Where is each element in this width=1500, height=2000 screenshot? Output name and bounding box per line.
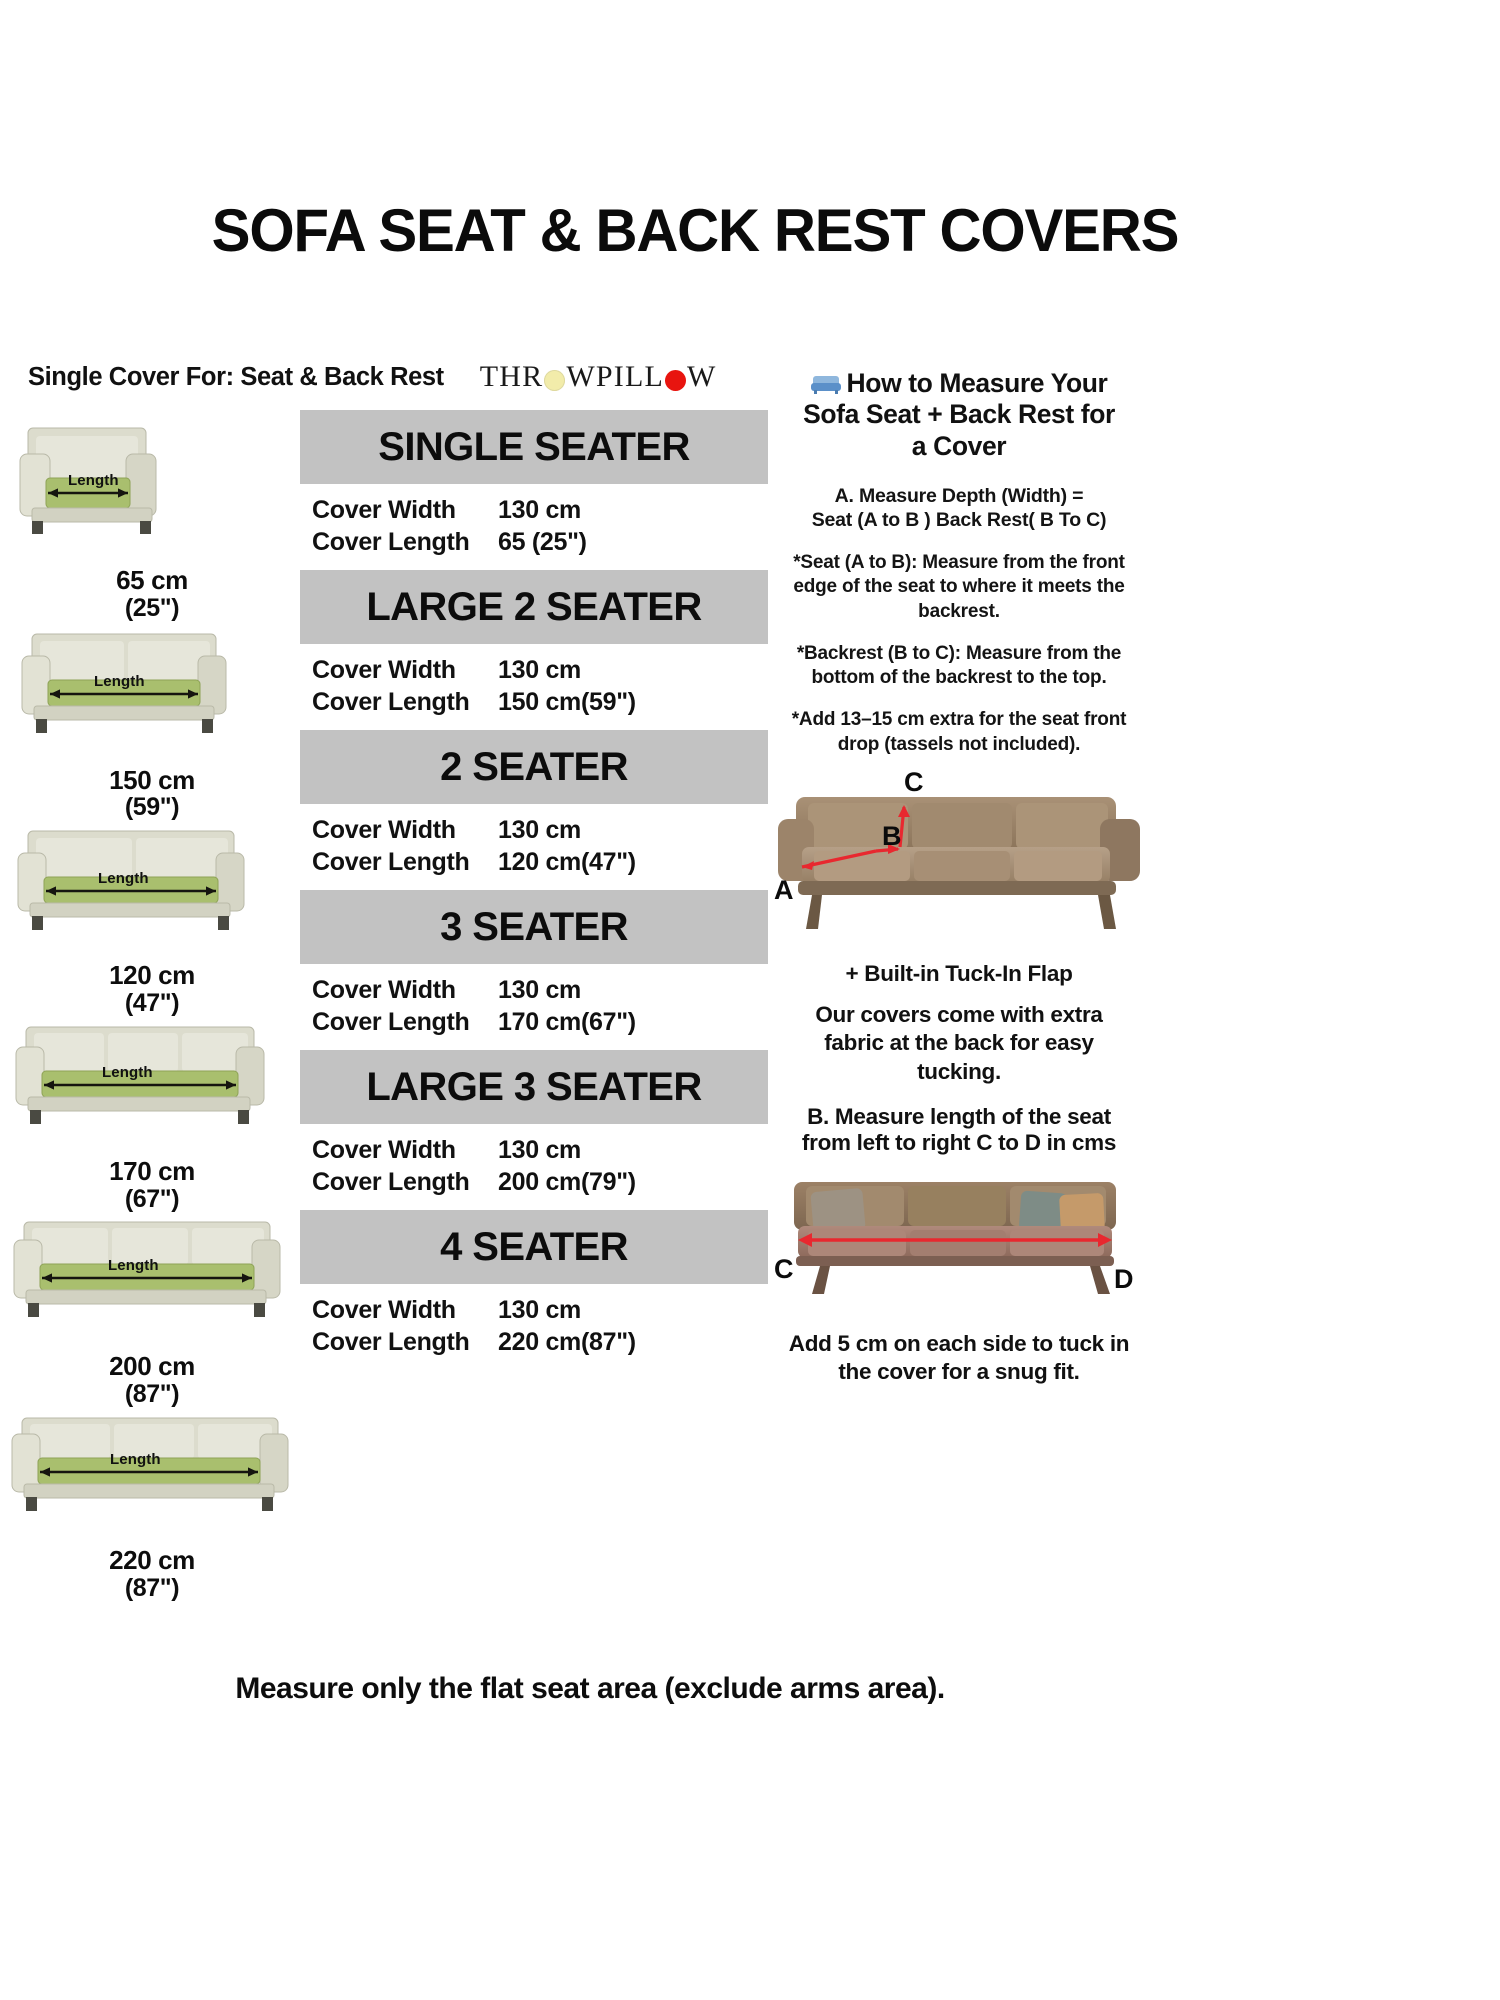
brand-red-o-icon bbox=[665, 370, 686, 391]
infographic-page: SOFA SEAT & BACK REST COVERS Single Cove… bbox=[0, 0, 1500, 2000]
sofa-photo-abc: C B A bbox=[768, 771, 1150, 951]
marker-c2-label: C bbox=[774, 1254, 794, 1285]
length-label-2-seater: Length bbox=[98, 870, 149, 887]
large-2-seater-svg bbox=[6, 628, 258, 760]
category-header-single-seater: SINGLE SEATER bbox=[300, 410, 768, 484]
sofa-block-4-seater: Length 220 cm (87") bbox=[6, 1414, 298, 1602]
marker-c-label: C bbox=[904, 767, 924, 798]
brand-yellow-o-icon bbox=[544, 370, 565, 391]
spec-label-length-large-2-seater: Cover Length bbox=[312, 686, 498, 718]
spec-row-width-2-seater: Cover Width 130 cm bbox=[312, 814, 768, 846]
footer-note: Measure only the flat seat area (exclude… bbox=[0, 1672, 1180, 1706]
dimension-caption-2-seater: 120 cm (47") bbox=[6, 962, 298, 1017]
spec-row-width-large-3-seater: Cover Width 130 cm bbox=[312, 1134, 768, 1166]
spec-value-length-large-2-seater: 150 cm(59") bbox=[498, 686, 636, 718]
category-header-2-seater: 2 SEATER bbox=[300, 730, 768, 804]
category-spec-column: SINGLE SEATER Cover Width 130 cm Cover L… bbox=[300, 410, 768, 1370]
dimension-inch-2-seater: (47") bbox=[6, 990, 298, 1017]
spec-row-width-3-seater: Cover Width 130 cm bbox=[312, 974, 768, 1006]
guide-point-a: A. Measure Depth (Width) = Seat (A to B … bbox=[768, 484, 1150, 533]
guide-seat-note: *Seat (A to B): Measure from the front e… bbox=[768, 551, 1150, 624]
category-block-single-seater: SINGLE SEATER Cover Width 130 cm Cover L… bbox=[300, 410, 768, 566]
subtitle-text: Single Cover For: Seat & Back Rest bbox=[28, 363, 444, 392]
dimension-cm-4-seater: 220 cm bbox=[109, 1545, 195, 1575]
spec-row-length-large-3-seater: Cover Length 200 cm(79") bbox=[312, 1166, 768, 1198]
dimension-inch-single-seater: (25") bbox=[6, 595, 298, 622]
four-seater-svg bbox=[6, 1414, 296, 1540]
spec-rows-large-3-seater: Cover Width 130 cm Cover Length 200 cm(7… bbox=[300, 1124, 768, 1206]
spec-value-width-large-2-seater: 130 cm bbox=[498, 654, 581, 686]
spec-rows-2-seater: Cover Width 130 cm Cover Length 120 cm(4… bbox=[300, 804, 768, 886]
dimension-cm-3-seater: 170 cm bbox=[109, 1156, 195, 1186]
category-block-2-seater: 2 SEATER Cover Width 130 cm Cover Length… bbox=[300, 730, 768, 886]
sofa-illustration-large-3-seater: Length bbox=[6, 1218, 298, 1351]
guide-heading: How to Measure Your Sofa Seat + Back Res… bbox=[768, 368, 1150, 462]
sofa-illustration-large-2-seater: Length bbox=[6, 628, 298, 765]
spec-row-length-single-seater: Cover Length 65 (25") bbox=[312, 526, 768, 558]
spec-rows-large-2-seater: Cover Width 130 cm Cover Length 150 cm(5… bbox=[300, 644, 768, 726]
guide-heading-line2: Sofa Seat + Back Rest for bbox=[768, 399, 1150, 430]
spec-value-length-4-seater: 220 cm(87") bbox=[498, 1326, 636, 1358]
category-block-large-2-seater: LARGE 2 SEATER Cover Width 130 cm Cover … bbox=[300, 570, 768, 726]
spec-row-width-4-seater: Cover Width 130 cm bbox=[312, 1294, 768, 1326]
spec-value-width-large-3-seater: 130 cm bbox=[498, 1134, 581, 1166]
guide-point-b-line2: from left to right C to D in cms bbox=[768, 1130, 1150, 1156]
spec-label-length-4-seater: Cover Length bbox=[312, 1326, 498, 1358]
spec-row-length-2-seater: Cover Length 120 cm(47") bbox=[312, 846, 768, 878]
category-title-large-2-seater: LARGE 2 SEATER bbox=[366, 585, 701, 630]
guide-heading-line1: How to Measure Your bbox=[847, 368, 1108, 398]
spec-label-width-3-seater: Cover Width bbox=[312, 974, 498, 1006]
dimension-inch-large-3-seater: (87") bbox=[6, 1381, 298, 1408]
brand-part-one: THR bbox=[480, 360, 544, 394]
dimension-cm-single-seater: 65 cm bbox=[116, 565, 188, 595]
tuck-in-flap-title: + Built-in Tuck-In Flap bbox=[768, 961, 1150, 987]
measuring-guide-column: How to Measure Your Sofa Seat + Back Res… bbox=[768, 368, 1150, 1387]
guide-extra-note: *Add 13–15 cm extra for the seat front d… bbox=[768, 708, 1150, 757]
category-title-2-seater: 2 SEATER bbox=[440, 745, 628, 790]
guide-point-b: B. Measure length of the seat from left … bbox=[768, 1104, 1150, 1156]
category-header-large-3-seater: LARGE 3 SEATER bbox=[300, 1050, 768, 1124]
category-title-single-seater: SINGLE SEATER bbox=[378, 425, 690, 470]
two-seater-svg bbox=[6, 827, 268, 955]
sofa-illustration-single-seater: Length bbox=[6, 420, 298, 565]
dimension-caption-4-seater: 220 cm (87") bbox=[6, 1547, 298, 1602]
sofa-block-large-2-seater: Length 150 cm (59") bbox=[6, 628, 298, 822]
three-seater-svg bbox=[6, 1023, 278, 1151]
dimension-caption-large-2-seater: 150 cm (59") bbox=[6, 767, 298, 822]
spec-value-length-large-3-seater: 200 cm(79") bbox=[498, 1166, 636, 1198]
dimension-caption-large-3-seater: 200 cm (87") bbox=[6, 1353, 298, 1408]
category-block-large-3-seater: LARGE 3 SEATER Cover Width 130 cm Cover … bbox=[300, 1050, 768, 1206]
spec-rows-3-seater: Cover Width 130 cm Cover Length 170 cm(6… bbox=[300, 964, 768, 1046]
single-seater-svg bbox=[6, 420, 206, 560]
category-block-4-seater: 4 SEATER Cover Width 130 cm Cover Length… bbox=[300, 1210, 768, 1366]
spec-rows-single-seater: Cover Width 130 cm Cover Length 65 (25") bbox=[300, 484, 768, 566]
spec-value-width-3-seater: 130 cm bbox=[498, 974, 581, 1006]
sofa-illustration-2-seater: Length bbox=[6, 827, 298, 960]
sofa-illustration-column: Length 65 cm (25") bbox=[6, 420, 298, 1607]
brand-part-three: W bbox=[687, 360, 717, 394]
category-header-large-2-seater: LARGE 2 SEATER bbox=[300, 570, 768, 644]
spec-value-width-2-seater: 130 cm bbox=[498, 814, 581, 846]
sofa-block-2-seater: Length 120 cm (47") bbox=[6, 827, 298, 1017]
length-label-large-3-seater: Length bbox=[108, 1257, 159, 1274]
spec-label-width-single-seater: Cover Width bbox=[312, 494, 498, 526]
page-title: SOFA SEAT & BACK REST COVERS bbox=[21, 196, 1369, 265]
marker-b-label: B bbox=[882, 821, 902, 852]
sofa-block-3-seater: Length 170 cm (67") bbox=[6, 1023, 298, 1213]
spec-row-width-large-2-seater: Cover Width 130 cm bbox=[312, 654, 768, 686]
spec-row-length-4-seater: Cover Length 220 cm(87") bbox=[312, 1326, 768, 1358]
dimension-cm-large-2-seater: 150 cm bbox=[109, 765, 195, 795]
sofa-illustration-4-seater: Length bbox=[6, 1414, 298, 1545]
sofa-illustration-3-seater: Length bbox=[6, 1023, 298, 1156]
category-title-large-3-seater: LARGE 3 SEATER bbox=[366, 1065, 701, 1110]
spec-row-length-large-2-seater: Cover Length 150 cm(59") bbox=[312, 686, 768, 718]
sofa-photo-abc-svg bbox=[768, 771, 1150, 951]
spec-row-length-3-seater: Cover Length 170 cm(67") bbox=[312, 1006, 768, 1038]
dimension-inch-large-2-seater: (59") bbox=[6, 794, 298, 821]
guide-point-b-line1: B. Measure length of the seat bbox=[768, 1104, 1150, 1130]
marker-a-label: A bbox=[774, 875, 794, 906]
length-label-3-seater: Length bbox=[102, 1064, 153, 1081]
spec-value-length-single-seater: 65 (25") bbox=[498, 526, 587, 558]
spec-value-width-single-seater: 130 cm bbox=[498, 494, 581, 526]
dimension-inch-4-seater: (87") bbox=[6, 1575, 298, 1602]
category-title-3-seater: 3 SEATER bbox=[440, 905, 628, 950]
dimension-caption-3-seater: 170 cm (67") bbox=[6, 1158, 298, 1213]
spec-value-length-3-seater: 170 cm(67") bbox=[498, 1006, 636, 1038]
spec-label-length-large-3-seater: Cover Length bbox=[312, 1166, 498, 1198]
spec-value-width-4-seater: 130 cm bbox=[498, 1294, 581, 1326]
brand-logo: THR WPILL W bbox=[480, 360, 717, 394]
spec-label-width-2-seater: Cover Width bbox=[312, 814, 498, 846]
spec-rows-4-seater: Cover Width 130 cm Cover Length 220 cm(8… bbox=[300, 1284, 768, 1366]
marker-d-label: D bbox=[1114, 1264, 1134, 1295]
large-three-seater-svg bbox=[6, 1218, 290, 1346]
spec-label-length-single-seater: Cover Length bbox=[312, 526, 498, 558]
dimension-cm-large-3-seater: 200 cm bbox=[109, 1351, 195, 1381]
spec-row-width-single-seater: Cover Width 130 cm bbox=[312, 494, 768, 526]
guide-point-a-line1: A. Measure Depth (Width) = bbox=[768, 484, 1150, 509]
spec-label-width-large-3-seater: Cover Width bbox=[312, 1134, 498, 1166]
category-header-4-seater: 4 SEATER bbox=[300, 1210, 768, 1284]
category-header-3-seater: 3 SEATER bbox=[300, 890, 768, 964]
spec-label-length-3-seater: Cover Length bbox=[312, 1006, 498, 1038]
length-label-4-seater: Length bbox=[110, 1451, 161, 1468]
guide-point-a-line2: Seat (A to B ) Back Rest( B To C) bbox=[768, 508, 1150, 533]
sofa-photo-cd: C D bbox=[768, 1170, 1150, 1320]
length-label-large-2-seater: Length bbox=[94, 673, 145, 690]
guide-backrest-note: *Backrest (B to C): Measure from the bot… bbox=[768, 642, 1150, 691]
sofa-block-single-seater: Length 65 cm (25") bbox=[6, 420, 298, 622]
sofa-block-large-3-seater: Length 200 cm (87") bbox=[6, 1218, 298, 1408]
tuck-note: Add 5 cm on each side to tuck in the cov… bbox=[768, 1330, 1150, 1387]
category-title-4-seater: 4 SEATER bbox=[440, 1225, 628, 1270]
category-block-3-seater: 3 SEATER Cover Width 130 cm Cover Length… bbox=[300, 890, 768, 1046]
sofa-photo-cd-svg bbox=[768, 1170, 1150, 1320]
tuck-in-flap-body: Our covers come with extra fabric at the… bbox=[768, 1001, 1150, 1086]
spec-value-length-2-seater: 120 cm(47") bbox=[498, 846, 636, 878]
dimension-inch-3-seater: (67") bbox=[6, 1186, 298, 1213]
spec-label-width-large-2-seater: Cover Width bbox=[312, 654, 498, 686]
brand-part-two: WPILL bbox=[566, 360, 664, 394]
dimension-caption-single-seater: 65 cm (25") bbox=[6, 567, 298, 622]
sofa-emoji-icon bbox=[811, 375, 841, 394]
length-label-single-seater: Length bbox=[68, 472, 119, 489]
spec-label-length-2-seater: Cover Length bbox=[312, 846, 498, 878]
guide-heading-line3: a Cover bbox=[768, 431, 1150, 462]
spec-label-width-4-seater: Cover Width bbox=[312, 1294, 498, 1326]
dimension-cm-2-seater: 120 cm bbox=[109, 960, 195, 990]
